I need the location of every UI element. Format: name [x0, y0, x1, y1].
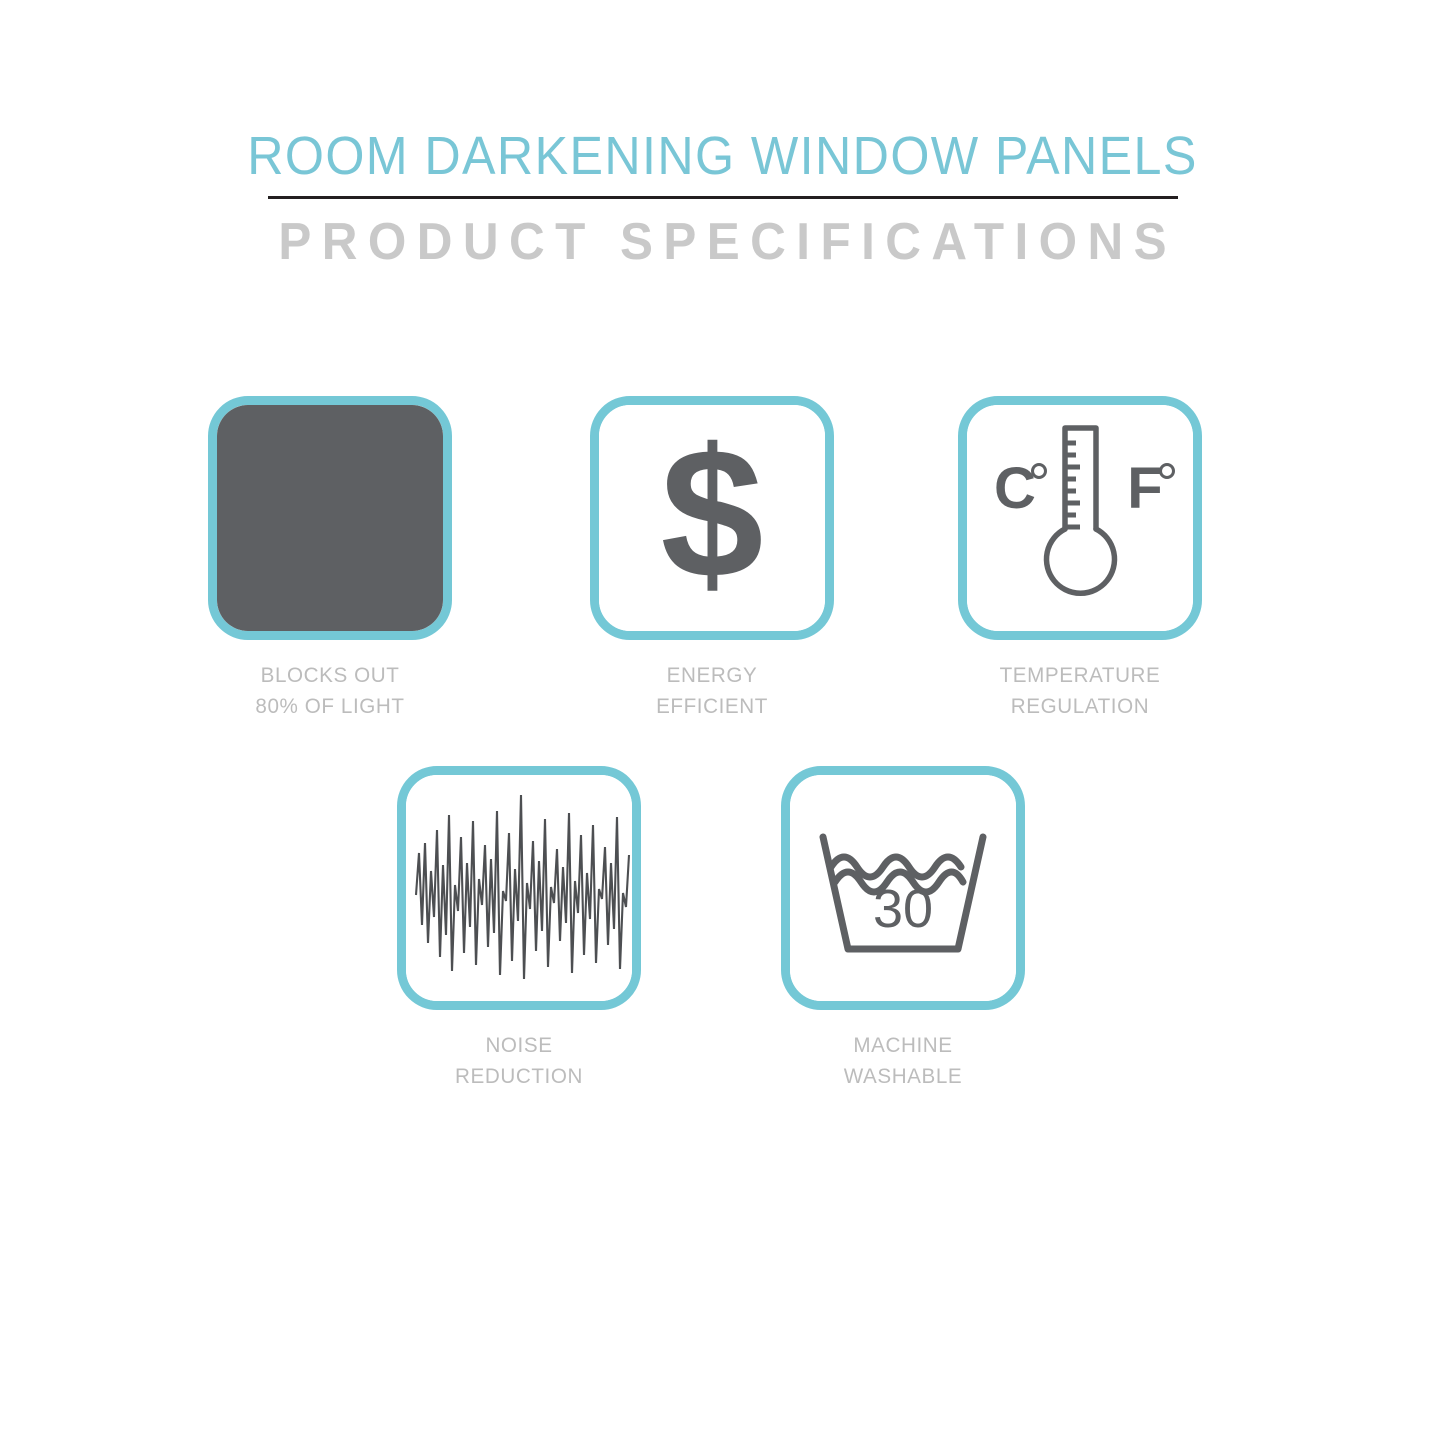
caption-temperature-regulation: TEMPERATURE REGULATION — [960, 660, 1200, 722]
feature-temperature-regulation: C F TEMPERATURE REGULATION — [955, 396, 1205, 722]
icon-box-energy-efficient: $ — [590, 396, 834, 640]
wash-tub-icon: 30 — [790, 775, 1016, 1001]
icon-box-machine-washable: 30 — [781, 766, 1025, 1010]
caption-machine-washable: MACHINE WASHABLE — [783, 1030, 1023, 1092]
dollar-glyph: $ — [599, 405, 825, 631]
feature-machine-washable: 30 MACHINE WASHABLE — [778, 766, 1028, 1092]
sound-waveform-icon — [406, 775, 632, 1001]
svg-text:$: $ — [661, 411, 764, 617]
sun-blocked-icon — [217, 405, 443, 631]
celsius-letter: C — [994, 456, 1036, 521]
waveform-shape — [406, 775, 632, 1001]
icon-box-noise-reduction — [397, 766, 641, 1010]
infographic-page: ROOM DARKENING WINDOW PANELS PRODUCT SPE… — [0, 0, 1445, 1445]
title-divider — [268, 196, 1178, 199]
wash-tub-shape: 30 — [790, 775, 1016, 1001]
thermometer-shape: C F — [967, 405, 1193, 631]
page-subtitle: PRODUCT SPECIFICATIONS — [36, 215, 1409, 270]
feature-noise-reduction: NOISE REDUCTION — [394, 766, 644, 1092]
icon-box-temperature-regulation: C F — [958, 396, 1202, 640]
fahrenheit-letter: F — [1127, 456, 1162, 521]
feature-blocks-out-light: BLOCKS OUT 80% OF LIGHT — [205, 396, 455, 722]
feature-energy-efficient: $ ENERGY EFFICIENT — [587, 396, 837, 722]
wash-temperature-label: 30 — [873, 879, 933, 939]
dollar-sign-icon: $ — [599, 405, 825, 631]
darkened-panel-fill — [217, 405, 443, 631]
caption-noise-reduction: NOISE REDUCTION — [399, 1030, 639, 1092]
caption-energy-efficient: ENERGY EFFICIENT — [592, 660, 832, 722]
page-title: ROOM DARKENING WINDOW PANELS — [51, 128, 1395, 193]
header: ROOM DARKENING WINDOW PANELS PRODUCT SPE… — [0, 128, 1445, 269]
icon-box-blocks-out-light — [208, 396, 452, 640]
caption-blocks-out-light: BLOCKS OUT 80% OF LIGHT — [210, 660, 450, 722]
thermometer-icon: C F — [967, 405, 1193, 631]
